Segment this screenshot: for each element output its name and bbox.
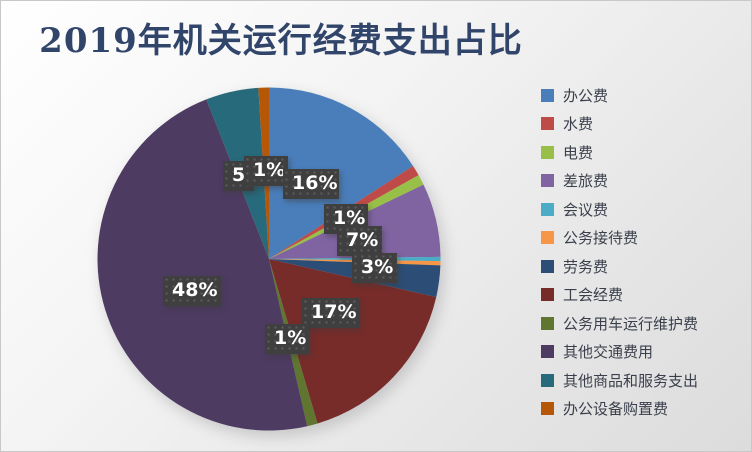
legend-item-label: 其他交通费用 <box>563 341 653 362</box>
legend-item-label: 办公设备购置费 <box>563 398 668 419</box>
legend-item[interactable]: 工会经费 <box>541 281 745 310</box>
data-label-other-transport[interactable]: 48% <box>163 276 221 306</box>
legend-item[interactable]: 电费 <box>541 138 745 167</box>
legend-item-label: 其他商品和服务支出 <box>563 370 698 391</box>
legend-item[interactable]: 办公费 <box>541 81 745 110</box>
chart-legend: 办公费水费电费差旅费会议费公务接待费劳务费工会经费公务用车运行维护费其他交通费用… <box>541 81 745 423</box>
legend-item-label: 电费 <box>563 142 593 163</box>
data-label-labor-expense[interactable]: 3% <box>352 253 397 283</box>
legend-item[interactable]: 水费 <box>541 110 745 139</box>
data-label-office-expense[interactable]: 16% <box>283 169 339 199</box>
legend-item-label: 公务用车运行维护费 <box>563 313 698 334</box>
chart-container: 2019年机关运行经费支出占比 5%1%16%1%7%3%48%1%17% 办公… <box>0 0 752 452</box>
legend-item[interactable]: 劳务费 <box>541 252 745 281</box>
legend-color-swatch <box>541 374 554 387</box>
legend-color-swatch <box>541 146 554 159</box>
legend-item[interactable]: 会议费 <box>541 195 745 224</box>
data-label-office-equipment[interactable]: 1% <box>244 156 288 186</box>
chart-title: 2019年机关运行经费支出占比 <box>1 13 561 62</box>
legend-item[interactable]: 公务用车运行维护费 <box>541 309 745 338</box>
legend-color-swatch <box>541 203 554 216</box>
legend-item[interactable]: 其他交通费用 <box>541 338 745 367</box>
legend-color-swatch <box>541 317 554 330</box>
legend-item-label: 工会经费 <box>563 284 623 305</box>
legend-item-label: 办公费 <box>563 85 608 106</box>
legend-item[interactable]: 公务接待费 <box>541 224 745 253</box>
legend-item-label: 公务接待费 <box>563 227 638 248</box>
legend-color-swatch <box>541 174 554 187</box>
legend-item[interactable]: 办公设备购置费 <box>541 395 745 424</box>
legend-item-label: 差旅费 <box>563 170 608 191</box>
legend-color-swatch <box>541 231 554 244</box>
legend-color-swatch <box>541 260 554 273</box>
legend-color-swatch <box>541 89 554 102</box>
legend-item[interactable]: 其他商品和服务支出 <box>541 366 745 395</box>
legend-color-swatch <box>541 402 554 415</box>
legend-color-swatch <box>541 117 554 130</box>
legend-color-swatch <box>541 345 554 358</box>
legend-item[interactable]: 差旅费 <box>541 167 745 196</box>
legend-item-label: 劳务费 <box>563 256 608 277</box>
legend-color-swatch <box>541 288 554 301</box>
legend-item-label: 水费 <box>563 113 593 134</box>
data-label-vehicle-maintenance[interactable]: 1% <box>265 324 309 354</box>
legend-item-label: 会议费 <box>563 199 608 220</box>
data-label-union-funds[interactable]: 17% <box>302 298 359 328</box>
data-label-travel-expense[interactable]: 7% <box>337 226 382 256</box>
